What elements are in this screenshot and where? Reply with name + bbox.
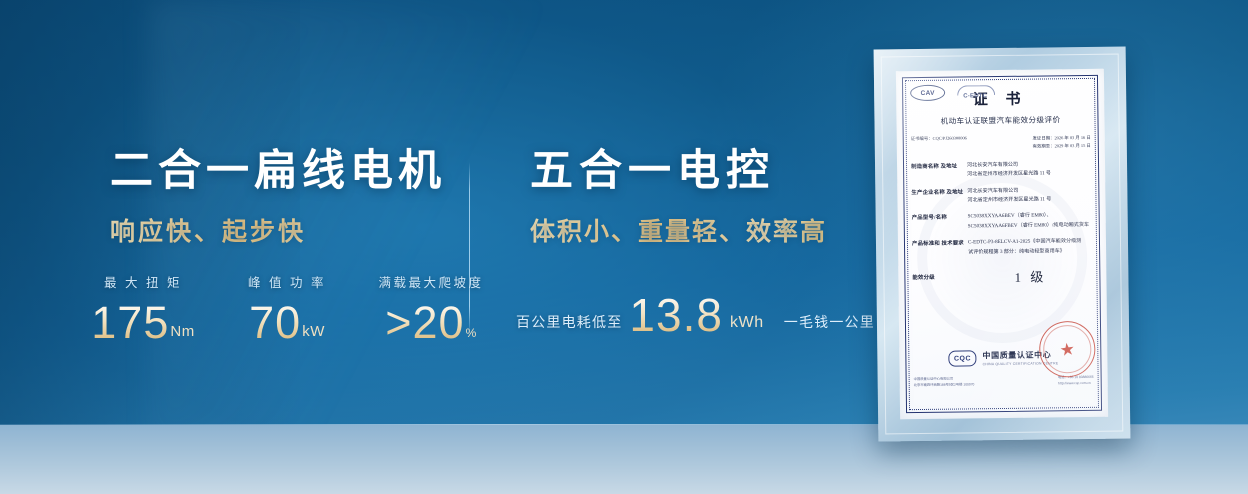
key-line-2: 及地址 [946, 189, 963, 195]
grade-value: 1 级 [968, 266, 1092, 287]
spec-item-power: 峰 值 功 率 70 kW [232, 272, 342, 345]
spec-item-torque: 最 大 扭 矩 175 Nm [88, 272, 198, 345]
seal-inner-ring [1040, 322, 1094, 376]
energy-prefix-label: 百公里电耗低至 [516, 312, 622, 332]
energy-unit: kWh [730, 314, 764, 332]
framed-certificate: CAV C-EDTC 证 书 机动车认证联盟汽车能效分级评价 证书编号：CQC/… [874, 46, 1131, 441]
key-line-1: 产品型号/名称 [912, 215, 947, 221]
certificate-row-value: SC5038XXYAA6BEV（睿行 EM80）、 SC5038XXYAA6FB… [968, 211, 1092, 231]
right-headline: 五合一电控 [530, 148, 860, 195]
energy-consumption-row: 百公里电耗低至 13.8 kWh 一毛钱一公里 [516, 288, 875, 334]
value-line-2: 河北省定州市经济开发区星光路 11 号 [967, 195, 1091, 206]
key-line-1: 生产企业名称 [911, 189, 945, 195]
certificate-paper: CAV C-EDTC 证 书 机动车认证联盟汽车能效分级评价 证书编号：CQC/… [896, 69, 1108, 420]
spec-number: 70 [249, 300, 301, 345]
spec-label: 满载最大爬坡度 [376, 272, 486, 291]
spec-value: 70 kW [232, 300, 342, 345]
certificate-meta: 证书编号：CQC/PJ2603#0006 发证日期：2026 年 03 月 16… [911, 134, 1091, 153]
left-headline: 二合一扁线电机 [110, 148, 450, 195]
spec-value: >20 % [376, 300, 486, 345]
value-line-1: C-EDTC-P3-8ELCV-A1-2025《中国汽车能效分级测 [968, 237, 1092, 248]
left-feature-panel: 二合一扁线电机 响应快、起步快 [110, 148, 450, 248]
spec-unit: % [466, 326, 477, 340]
key-line-1: 产品标准和 [912, 241, 940, 247]
certificate-row: 制造商名称 及地址 河北长安汽车有限公司 河北省定州市经济开发区星光路 11 号 [911, 160, 1091, 181]
acrylic-frame: CAV C-EDTC 证 书 机动车认证联盟汽车能效分级评价 证书编号：CQC/… [874, 46, 1131, 441]
spec-unit: Nm [170, 323, 194, 340]
key-line-2: 及地址 [941, 163, 958, 169]
certificate-row: 产品标准和 技术要求 C-EDTC-P3-8ELCV-A1-2025《中国汽车能… [912, 237, 1092, 258]
footer-right-line-2: http://www.cqc.com.cn [1058, 381, 1094, 387]
key-line-1: 制造商名称 [911, 163, 939, 169]
certificate-row: 生产企业名称 及地址 河北长安汽车有限公司 河北省定州市经济开发区星光路 11 … [911, 185, 1091, 206]
certificate-content: CAV C-EDTC 证 书 机动车认证联盟汽车能效分级评价 证书编号：CQC/… [910, 83, 1094, 405]
spec-list: 最 大 扭 矩 175 Nm 峰 值 功 率 70 kW 满载最大爬坡度 >20… [88, 272, 486, 345]
energy-value: 13.8 [629, 292, 723, 338]
certificate-dates: 发证日期：2026 年 03 月 16 日 有效期至：2029 年 03 月 1… [1032, 134, 1090, 151]
footer-left-line-2: 北京市南四环西路188号9区2号楼 100070 [914, 382, 975, 389]
certificate-row: 产品型号/名称 SC5038XXYAA6BEV（睿行 EM80）、 SC5038… [912, 211, 1092, 232]
cqc-logo-icon: CQC [948, 350, 976, 366]
promo-banner: 二合一扁线电机 响应快、起步快 最 大 扭 矩 175 Nm 峰 值 功 率 7… [0, 0, 1248, 494]
certificate-row-value: 河北长安汽车有限公司 河北省定州市经济开发区星光路 11 号 [967, 185, 1091, 205]
value-line-2: 试评价规程第 3 部分：纯电动轻型商用车》 [968, 247, 1092, 258]
right-feature-panel: 五合一电控 体积小、重量轻、效率高 [530, 148, 860, 248]
spec-label: 峰 值 功 率 [232, 272, 342, 291]
spec-unit: kW [302, 323, 325, 340]
certificate-row-key: 产品型号/名称 [912, 213, 968, 233]
right-subline: 体积小、重量轻、效率高 [530, 212, 860, 248]
certificate-serial: 证书编号：CQC/PJ2603#0006 [911, 135, 967, 142]
certificate-valid-until: 有效期至：2029 年 03 月 15 日 [1033, 142, 1091, 151]
spec-number: >20 [385, 300, 464, 345]
certificate-row-key: 生产企业名称 及地址 [911, 187, 967, 207]
spec-number: 175 [91, 300, 169, 345]
certificate-row-key: 制造商名称 及地址 [911, 161, 967, 181]
grade-label: 能效分级 [912, 272, 968, 283]
spec-label: 最 大 扭 矩 [88, 272, 198, 291]
value-line-2: SC5038XXYAA6FBEV（睿行 EM80）/纯电动厢式货车 [968, 221, 1092, 232]
footer-left: 中国质量认证中心有限公司 北京市南四环西路188号9区2号楼 100070 [914, 377, 975, 390]
spec-item-gradeability: 满载最大爬坡度 >20 % [376, 272, 486, 345]
certificate-row-value: 河北长安汽车有限公司 河北省定州市经济开发区星光路 11 号 [967, 160, 1091, 180]
certificate-subtitle: 机动车认证联盟汽车能效分级评价 [910, 114, 1090, 127]
certificate-row-key: 产品标准和 技术要求 [912, 239, 968, 259]
certificate-row-value: C-EDTC-P3-8ELCV-A1-2025《中国汽车能效分级测 试评价规程第… [968, 237, 1092, 257]
spec-value: 175 Nm [88, 300, 198, 345]
edtc-logo-icon: C-EDTC [955, 85, 995, 99]
value-line-2: 河北省定州市经济开发区星光路 11 号 [967, 169, 1091, 180]
certificate-table: 制造商名称 及地址 河北长安汽车有限公司 河北省定州市经济开发区星光路 11 号… [911, 160, 1093, 288]
left-subline: 响应快、起步快 [110, 212, 450, 248]
key-line-2: 技术要求 [941, 241, 963, 247]
certificate-grade-row: 能效分级 1 级 [912, 266, 1092, 287]
